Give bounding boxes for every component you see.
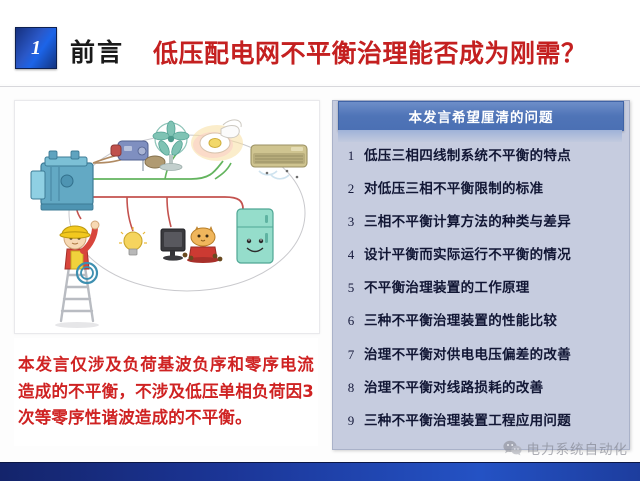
list-item[interactable]: 1 低压三相四线制系统不平衡的特点: [338, 144, 624, 177]
slide-root: 1 前言 低压配电网不平衡治理能否成为刚需？: [0, 0, 640, 480]
list-item[interactable]: 2 对低压三相不平衡限制的标准: [338, 177, 624, 210]
wechat-icon: [503, 440, 522, 456]
list-item[interactable]: 5 不平衡治理装置的工作原理: [338, 276, 624, 309]
list-item-number: 5: [338, 280, 364, 296]
questions-panel-shelf: [338, 130, 622, 142]
refrigerator-icon: [237, 209, 273, 263]
list-item-label: 对低压三相不平衡限制的标准: [364, 177, 543, 197]
list-item-number: 2: [338, 181, 364, 197]
list-item-label: 低压三相四线制系统不平衡的特点: [364, 144, 571, 164]
watermark-text: 电力系统自动化: [527, 438, 629, 458]
illustration-card: [14, 100, 320, 334]
list-item[interactable]: 9 三种不平衡治理装置工程应用问题: [338, 409, 624, 442]
list-item-label: 治理不平衡对线路损耗的改善: [364, 376, 543, 396]
list-item-label: 三相不平衡计算方法的种类与差异: [364, 210, 571, 230]
header-divider: [0, 86, 640, 87]
scope-statement-text: 本发言仅涉及负荷基波负序和零序电流造成的不平衡，不涉及低压单相负荷因3次等零序性…: [18, 352, 314, 432]
list-item-number: 4: [338, 247, 364, 263]
questions-list: 1 低压三相四线制系统不平衡的特点 2 对低压三相不平衡限制的标准 3 三相不平…: [338, 144, 624, 442]
list-item[interactable]: 6 三种不平衡治理装置的性能比较: [338, 309, 624, 342]
list-item-number: 1: [338, 148, 364, 164]
page-title: 低压配电网不平衡治理能否成为刚需？: [153, 34, 587, 70]
list-item-label: 不平衡治理装置的工作原理: [364, 276, 530, 296]
list-item[interactable]: 4 设计平衡而实际运行不平衡的情况: [338, 243, 624, 276]
list-item-label: 三种不平衡治理装置的性能比较: [364, 309, 557, 329]
list-item-label: 治理不平衡对供电电压偏差的改善: [364, 343, 571, 363]
scope-statement: 本发言仅涉及负荷基波负序和零序电流造成的不平衡，不涉及低压单相负荷因3次等零序性…: [14, 338, 318, 446]
distribution-network-diagram: [15, 101, 319, 333]
watermark: 电力系统自动化: [503, 438, 629, 458]
section-number-text: 1: [31, 38, 41, 58]
list-item-number: 9: [338, 413, 364, 429]
list-item[interactable]: 3 三相不平衡计算方法的种类与差异: [338, 210, 624, 243]
section-label: 前言: [70, 33, 124, 69]
list-item-number: 6: [338, 313, 364, 329]
questions-panel-header: 本发言希望厘清的问题: [338, 101, 624, 131]
slide-header: 1 前言 低压配电网不平衡治理能否成为刚需？: [0, 0, 640, 84]
list-item-label: 设计平衡而实际运行不平衡的情况: [364, 243, 571, 263]
section-number-badge: 1: [15, 27, 57, 69]
questions-panel-title: 本发言希望厘清的问题: [409, 106, 554, 126]
list-item[interactable]: 7 治理不平衡对供电电压偏差的改善: [338, 343, 624, 376]
list-item-label: 三种不平衡治理装置工程应用问题: [364, 409, 571, 429]
list-item[interactable]: 8 治理不平衡对线路损耗的改善: [338, 376, 624, 409]
footer-bar: [0, 462, 640, 481]
list-item-number: 7: [338, 347, 364, 363]
list-item-number: 3: [338, 214, 364, 230]
list-item-number: 8: [338, 380, 364, 396]
